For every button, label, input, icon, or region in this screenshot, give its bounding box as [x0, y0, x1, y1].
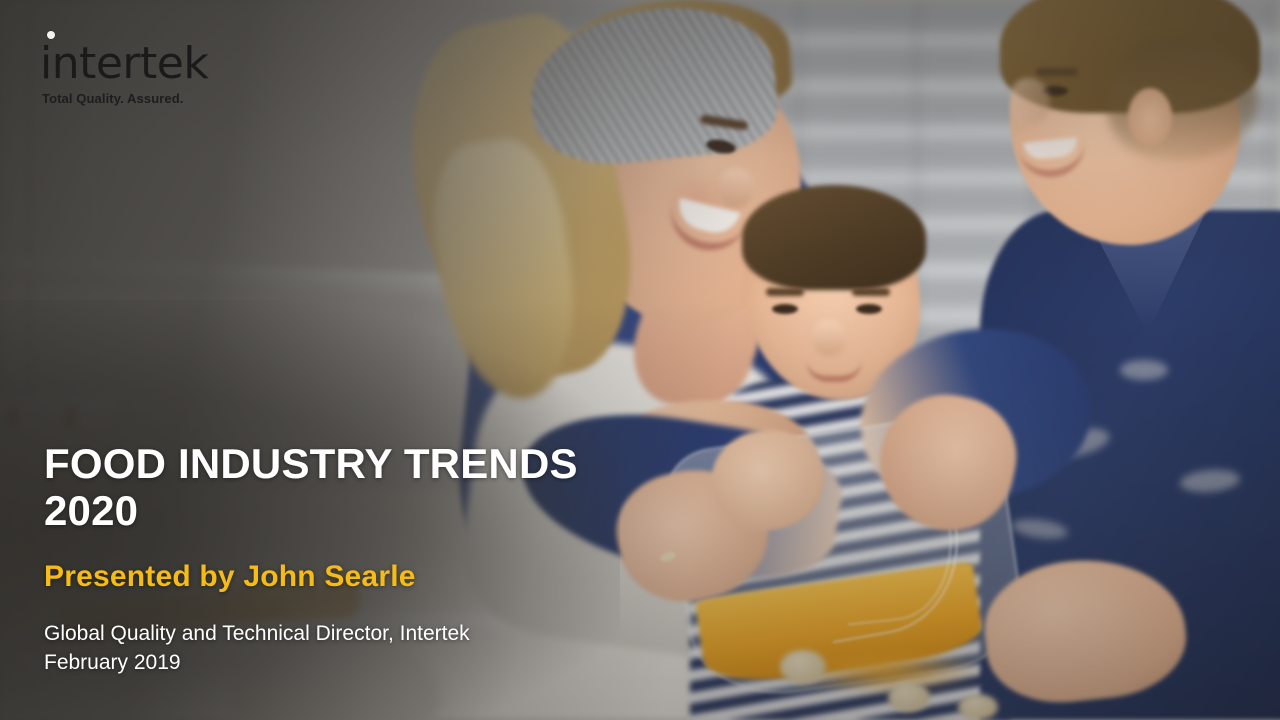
logo-wordmark: intertek: [40, 42, 208, 86]
presentation-date: February 2019: [44, 649, 684, 678]
logo-tagline: Total Quality. Assured.: [42, 91, 208, 106]
slide-title: FOOD INDUSTRY TRENDS 2020: [44, 440, 684, 534]
logo-dot-icon: [47, 31, 55, 39]
title-block: FOOD INDUSTRY TRENDS 2020 Presented by J…: [44, 440, 684, 678]
presentation-slide: intertek Total Quality. Assured. FOOD IN…: [0, 0, 1280, 720]
presenter-line: Presented by John Searle: [44, 560, 684, 594]
presenter-role: Global Quality and Technical Director, I…: [44, 620, 684, 649]
intertek-logo: intertek Total Quality. Assured.: [40, 42, 208, 106]
